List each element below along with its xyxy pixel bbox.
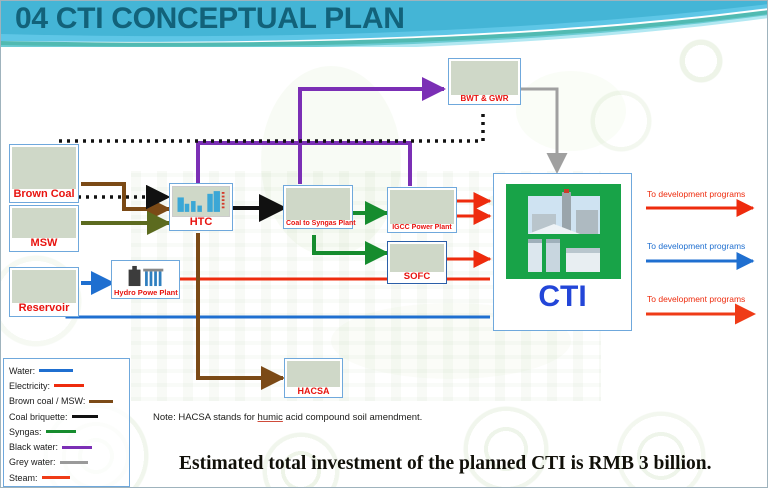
legend-item: Brown coal / MSW: [9, 394, 126, 409]
node-label: SOFC [390, 272, 444, 282]
black-water-line-swatch [62, 446, 92, 449]
node-msw[interactable]: MSW [9, 205, 79, 252]
reservoir-photo [12, 270, 76, 303]
steam-line-swatch [42, 476, 70, 479]
sofc-photo [390, 244, 444, 272]
legend-box: Water: Electricity: Brown coal / MSW: Co… [3, 358, 130, 487]
electricity-line-swatch [54, 384, 84, 387]
slide-canvas: 04 CTI CONCEPTUAL PLAN [0, 0, 768, 488]
node-hydro-power-plant[interactable]: Hydro Powe Plant [111, 260, 180, 299]
legend-item: Steam: [9, 470, 126, 485]
node-htc[interactable]: HTC [169, 183, 233, 231]
htc-chart-icon [172, 186, 230, 217]
legend-label: Coal briquette: [9, 412, 68, 422]
cti-illustration [506, 184, 621, 279]
legend-label: Black water: [9, 442, 58, 452]
output-label-electricity: To development programs [647, 189, 745, 199]
legend-item: Syngas: [9, 424, 126, 439]
brown-coal-photo [12, 147, 76, 189]
msw-photo [12, 208, 76, 238]
node-label: MSW [12, 238, 76, 250]
output-label-steam: To development programs [647, 294, 745, 304]
brown-coal-line-swatch [89, 400, 113, 403]
legend-label: Electricity: [9, 381, 50, 391]
legend-label: Syngas: [9, 427, 42, 437]
legend-item: Coal briquette: [9, 409, 126, 424]
node-coal-to-syngas-plant[interactable]: Coal to Syngas Plant [283, 185, 353, 229]
note-underlined-word: humic [258, 412, 283, 423]
note-prefix: Note: HACSA stands for [153, 412, 258, 423]
node-sofc[interactable]: SOFC [387, 241, 447, 284]
node-reservoir[interactable]: Reservoir [9, 267, 79, 317]
legend-item: Black water: [9, 439, 126, 454]
investment-statement: Estimated total investment of the planne… [179, 453, 712, 475]
coal-briquette-line-swatch [72, 415, 98, 418]
legend-label: Brown coal / MSW: [9, 396, 85, 406]
bwt-gwr-photo [451, 61, 518, 95]
node-brown-coal[interactable]: Brown Coal [9, 144, 79, 203]
node-label: Coal to Syngas Plant [286, 220, 350, 227]
output-label-water: To development programs [647, 241, 745, 251]
water-line-swatch [39, 369, 73, 372]
node-label: Brown Coal [12, 189, 76, 201]
legend-item: Grey water: [9, 455, 126, 470]
hydro-power-plant-icon [114, 263, 177, 289]
legend-item: Electricity: [9, 378, 126, 393]
legend-item: Water: [9, 363, 126, 378]
node-label: IGCC Power Plant [390, 224, 454, 231]
coal-to-syngas-photo [286, 188, 350, 220]
legend-label: Steam: [9, 473, 38, 483]
node-label: HTC [172, 217, 230, 229]
grey-water-line-swatch [60, 461, 88, 464]
node-label: BWT & GWR [451, 95, 518, 103]
node-bwt-gwr[interactable]: BWT & GWR [448, 58, 521, 105]
igcc-power-plant-photo [390, 190, 454, 224]
node-igcc-power-plant[interactable]: IGCC Power Plant [387, 187, 457, 233]
note-suffix: acid compound soil amendment. [283, 412, 422, 423]
node-hacsa[interactable]: HACSA [284, 358, 343, 398]
node-label: HACSA [287, 387, 340, 396]
node-cti[interactable]: CTI [493, 173, 632, 331]
legend-label: Water: [9, 366, 35, 376]
syngas-line-swatch [46, 430, 76, 433]
node-label: Hydro Powe Plant [114, 289, 177, 297]
hacsa-note: Note: HACSA stands for humic acid compou… [153, 412, 422, 423]
cti-title: CTI [494, 282, 631, 312]
hacsa-photo [287, 361, 340, 387]
legend-label: Grey water: [9, 457, 56, 467]
node-label: Reservoir [12, 303, 76, 315]
